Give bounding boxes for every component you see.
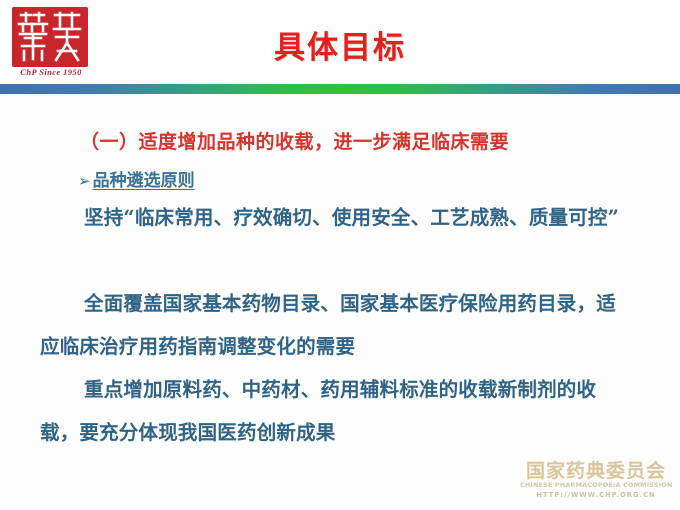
arrow-bullet-icon: ➢ — [78, 172, 91, 190]
body-paragraph: 坚持“临床常用、疗效确切、使用安全、工艺成熟、质量可控” — [40, 196, 628, 239]
footer-watermark-logo: 国家药典委员会 CHINESE PHARMACOPOEIA COMMISSION… — [520, 456, 672, 504]
seal-caption: ChP Since 1950 — [12, 67, 90, 77]
watermark-url: HTTP://WWW.CHP.ORG.CN — [520, 491, 672, 499]
section-heading: （一）适度增加品种的收载，进一步满足临床需要 — [80, 127, 509, 154]
bullet-item-label: 品种遴选原则 — [93, 166, 195, 191]
slide-content: （一）适度增加品种的收载，进一步满足临床需要 ➢ 品种遴选原则 坚持“临床常用、… — [0, 94, 680, 466]
header-accent-bar — [0, 84, 680, 94]
watermark-chinese-name: 国家药典委员会 — [520, 456, 672, 483]
presentation-slide: ChP Since 1950 具体目标 （一）适度增加品种的收载，进一步满足临床… — [0, 0, 680, 510]
bullet-item-principle: ➢ 品种遴选原则 — [78, 166, 195, 191]
watermark-english-name: CHINESE PHARMACOPOEIA COMMISSION — [520, 481, 672, 489]
slide-title: 具体目标 — [0, 22, 680, 67]
body-paragraph: 全面覆盖国家基本药物目录、国家基本医疗保险用药目录，适应临床治疗用药指南调整变化… — [40, 282, 628, 368]
body-paragraph: 重点增加原料药、中药材、药用辅料标准的收载新制剂的收载，要充分体现我国医药创新成… — [40, 368, 628, 454]
slide-header: ChP Since 1950 具体目标 — [0, 0, 680, 84]
